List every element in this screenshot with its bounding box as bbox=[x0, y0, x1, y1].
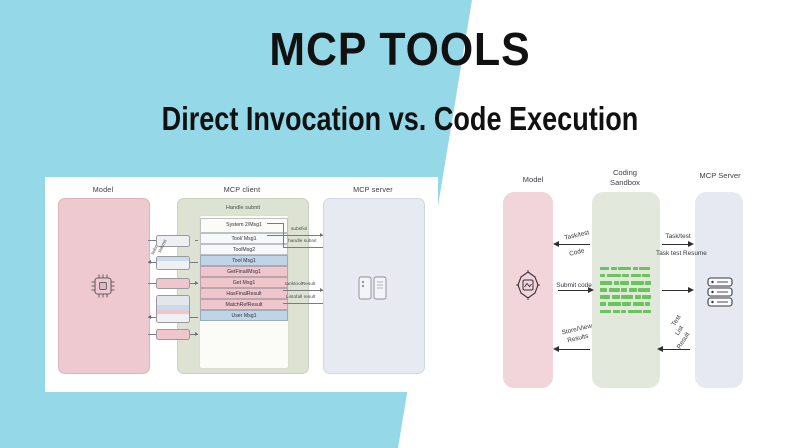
handle-submit-label: Handle subnit bbox=[178, 205, 308, 211]
page-title-wrap: MCP TOOLS bbox=[0, 26, 800, 72]
msg-row-hasfinalresult: HasFinalResult bbox=[200, 288, 288, 299]
msg-row-matchrefresult: MatchRefResult bbox=[200, 299, 288, 310]
left-srv-line-1 bbox=[283, 235, 323, 236]
ai-model-icon bbox=[514, 270, 542, 300]
right-arrowhead-testresult bbox=[657, 346, 663, 352]
left-bracket-vert bbox=[283, 223, 284, 247]
right-col-label-sandbox-line1: Coding bbox=[580, 168, 670, 177]
msg-row-tool-msg2: ToolMsg2 bbox=[200, 244, 288, 255]
left-srv-arrowhead-1 bbox=[320, 233, 323, 237]
left-srv-label-2: handle subnit bbox=[288, 239, 317, 244]
msg-row-getfinal: GetFinal/Msg1 bbox=[200, 266, 288, 277]
right-arrow-line-tasktest-left bbox=[558, 244, 590, 245]
right-arrow-line-submitcode bbox=[558, 290, 590, 291]
direct-invocation-diagram: Model MCP client MCP server Handle subni… bbox=[45, 177, 438, 392]
token-block-2 bbox=[156, 256, 190, 270]
msg-row-system: System 2/Msg1 bbox=[200, 218, 288, 233]
msg-row-user-msg1: User Msg1 bbox=[200, 310, 288, 321]
right-arrow-line-tasktest-server bbox=[662, 244, 690, 245]
left-srv-line-3 bbox=[283, 290, 323, 291]
left-srv-label-1: subsfiol bbox=[291, 227, 307, 232]
left-arrowhead-3 bbox=[195, 281, 198, 285]
token-block-3 bbox=[156, 278, 190, 289]
page-title: MCP TOOLS bbox=[28, 26, 772, 72]
right-arrowhead-plain bbox=[688, 287, 694, 293]
right-label-server-tasktest: Task/test bbox=[658, 233, 698, 241]
slide-canvas: MCP TOOLS Direct Invocation vs. Code Exe… bbox=[0, 0, 800, 448]
cpu-chip-icon bbox=[88, 271, 118, 301]
right-col-label-mcp-server: MCP Server bbox=[675, 171, 765, 180]
server-stack-icon bbox=[705, 275, 735, 309]
token-block-5 bbox=[156, 329, 190, 340]
left-bracket-mid bbox=[267, 235, 283, 236]
left-bracket-top bbox=[267, 223, 283, 224]
right-arrow-line-plain bbox=[662, 290, 690, 291]
left-arrowhead-5 bbox=[195, 332, 198, 336]
right-arrow-line-storeview bbox=[558, 349, 590, 350]
left-col-label-model: Model bbox=[58, 185, 148, 194]
left-srv-label-4: Listofall result bbox=[286, 295, 315, 300]
left-col-label-mcp-client: MCP client bbox=[177, 185, 307, 194]
left-srv-line-2 bbox=[283, 247, 323, 248]
right-label-submit-code: Submit code bbox=[549, 282, 599, 290]
sandbox-code-block bbox=[600, 267, 654, 313]
left-col-label-mcp-server: MCP server bbox=[323, 185, 423, 194]
left-arrowhead-4 bbox=[148, 315, 151, 319]
client-message-stack: System 2/Msg1 Tool/ Msg1 ToolMsg2 Tool M… bbox=[199, 215, 289, 369]
page-subtitle-wrap: Direct Invocation vs. Code Execution bbox=[0, 102, 800, 135]
server-rack-icon bbox=[356, 273, 390, 303]
code-execution-diagram: Model Coding Sandbox MCP Server bbox=[470, 165, 800, 395]
left-srv-label-3: tanktoolResult bbox=[285, 282, 315, 287]
msg-row-get-msg1: Get Msg1 bbox=[200, 277, 288, 288]
page-subtitle: Direct Invocation vs. Code Execution bbox=[72, 102, 728, 135]
right-label-code-below: Code bbox=[560, 245, 595, 260]
right-col-label-model: Model bbox=[498, 175, 568, 184]
right-col-label-sandbox-line2: Sandbox bbox=[580, 178, 670, 187]
left-diagram-card: Model MCP client MCP server Handle subni… bbox=[45, 177, 438, 392]
msg-row-tool-msg1-blue: Tool Msg1 bbox=[200, 255, 288, 266]
right-label-server-resume: Task test Resume bbox=[656, 250, 702, 258]
left-conn-line-1b bbox=[195, 240, 198, 241]
token-block-4 bbox=[156, 295, 190, 323]
left-srv-line-4 bbox=[283, 303, 323, 304]
right-arrowhead-tasktest-server bbox=[688, 241, 694, 247]
left-arrowhead-2 bbox=[148, 260, 151, 264]
left-srv-arrowhead-3 bbox=[320, 288, 323, 292]
